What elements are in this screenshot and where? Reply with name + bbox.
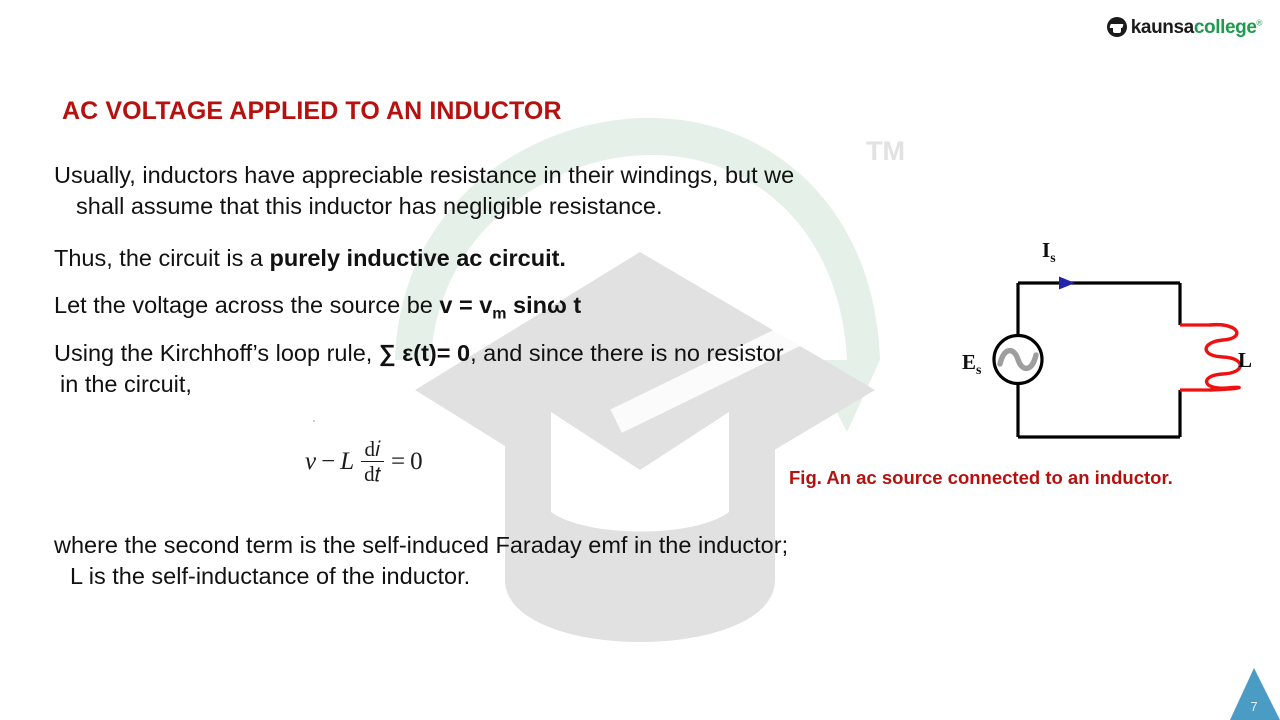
equation-sum-emf-zero: ∑ ε(t)= 0	[379, 340, 470, 366]
brand-name-secondary: college	[1194, 17, 1257, 38]
label-current-subscript: s	[1050, 250, 1055, 265]
paragraph-kirchhoff-suffix: , and since there is no resistor	[470, 340, 784, 366]
equation-v-equals-vm: v = v	[439, 292, 492, 318]
equation-operator-minus: −	[321, 448, 335, 476]
label-current-Is: Is	[1042, 238, 1056, 266]
label-source-symbol: E	[962, 350, 976, 374]
label-source-subscript: s	[976, 362, 981, 377]
paragraph-purely-inductive-emphasis: purely inductive ac circuit.	[270, 245, 566, 271]
current-arrow-icon	[1059, 277, 1075, 290]
circuit-diagram	[955, 228, 1280, 458]
watermark-tm-mark: TM	[866, 136, 905, 167]
paragraph-intro-line2: shall assume that this inductor has negl…	[54, 191, 794, 222]
registered-mark: ®	[1257, 18, 1263, 27]
page-number: 7	[1230, 699, 1278, 714]
paragraph-intro: Usually, inductors have appreciable resi…	[54, 160, 794, 222]
paragraph-source-voltage: Let the voltage across the source be v =…	[54, 290, 581, 325]
equation-term-zero: 0	[410, 448, 423, 476]
equation-term-v: v	[305, 448, 316, 476]
equation-fraction-denominator: d𝑡	[361, 461, 384, 485]
page-number-badge: 7	[1230, 665, 1280, 720]
equation-sin-omega-t: sinω t	[507, 292, 582, 318]
paragraph-kirchhoff: Using the Kirchhoff’s loop rule, ∑ ε(t)=…	[54, 338, 784, 400]
brand-name-primary: kaunsa	[1131, 17, 1194, 38]
equation-subscript-m: m	[492, 306, 506, 323]
brand-wordmark: kaunsacollege®	[1131, 18, 1262, 37]
paragraph-source-voltage-prefix: Let the voltage across the source be	[54, 292, 439, 318]
paragraph-purely-inductive: Thus, the circuit is a purely inductive …	[54, 243, 566, 274]
graduation-cap-icon	[1107, 17, 1127, 37]
paragraph-kirchhoff-prefix: Using the Kirchhoff’s loop rule,	[54, 340, 379, 366]
slide-canvas: TM kaunsacollege® AC VOLTAGE APPLIED TO …	[0, 0, 1280, 720]
label-source-Es: Es	[962, 350, 981, 378]
equation-fraction-didt: d𝑖 d𝑡	[361, 438, 384, 486]
paragraph-faraday-emf-line2: L is the self-inductance of the inductor…	[54, 561, 788, 592]
watermark-cap-inner	[551, 412, 729, 532]
stray-dot-artifact	[313, 420, 315, 422]
brand-logo: kaunsacollege®	[1107, 17, 1262, 37]
equation-operator-equals: =	[391, 448, 405, 476]
equation-term-L: L	[340, 448, 354, 476]
paragraph-intro-line1: Usually, inductors have appreciable resi…	[54, 162, 794, 188]
inductor-coil-icon	[1206, 325, 1240, 390]
watermark-swoosh-tip	[810, 360, 880, 432]
paragraph-faraday-emf-line1: where the second term is the self-induce…	[54, 532, 788, 558]
equation-source-voltage: v = vm sinω t	[439, 292, 581, 318]
paragraph-purely-inductive-prefix: Thus, the circuit is a	[54, 245, 270, 271]
label-current-symbol: I	[1042, 238, 1050, 262]
paragraph-kirchhoff-line2: in the circuit,	[54, 369, 784, 400]
paragraph-faraday-emf: where the second term is the self-induce…	[54, 530, 788, 592]
equation-loop-rule: v − L d𝑖 d𝑡 = 0	[305, 438, 423, 486]
figure-caption: Fig. An ac source connected to an induct…	[789, 467, 1173, 489]
equation-fraction-numerator: d𝑖	[362, 438, 384, 461]
page-title: AC VOLTAGE APPLIED TO AN INDUCTOR	[62, 97, 562, 126]
label-inductor-L: L	[1238, 348, 1252, 373]
